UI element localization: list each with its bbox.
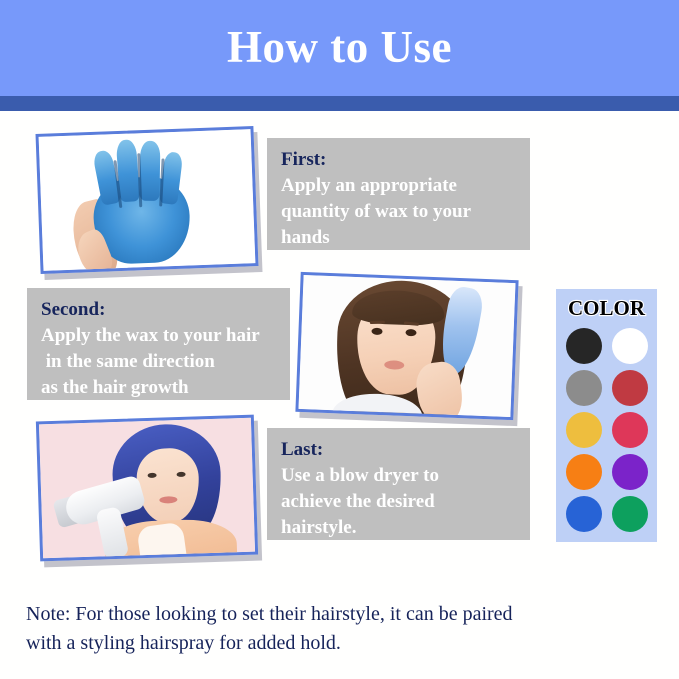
finger-icon bbox=[139, 141, 160, 201]
step-panel-first: First: Apply an appropriate quantity of … bbox=[267, 138, 530, 250]
photo-second-content bbox=[299, 275, 516, 417]
eyebrow-icon bbox=[370, 321, 385, 324]
color-swatch-crimson-pink[interactable] bbox=[612, 412, 648, 448]
towel-icon bbox=[136, 522, 187, 559]
color-swatch-golden-yellow[interactable] bbox=[566, 412, 602, 448]
color-swatch-grid bbox=[561, 325, 653, 535]
footer-note-line: Note: For those looking to set their hai… bbox=[26, 600, 646, 629]
header-divider bbox=[0, 96, 679, 111]
color-swatch-purple[interactable] bbox=[612, 454, 648, 490]
color-swatch-royal-blue[interactable] bbox=[566, 496, 602, 532]
step-line: hairstyle. bbox=[281, 515, 516, 541]
step-line: hands bbox=[281, 225, 516, 251]
photo-second-step bbox=[295, 272, 518, 420]
color-swatch-orange[interactable] bbox=[566, 454, 602, 490]
infographic-page: How to Use First: Apply an appropriate q… bbox=[0, 0, 679, 679]
step-line: as the hair growth bbox=[41, 375, 276, 401]
step-line: Apply the wax to your hair bbox=[41, 323, 276, 349]
step-heading-second: Second: bbox=[41, 297, 276, 323]
color-swatch-panel: COLOR bbox=[556, 289, 657, 542]
step-line: achieve the desired bbox=[281, 489, 516, 515]
color-panel-title: COLOR bbox=[556, 295, 657, 321]
step-heading-last: Last: bbox=[281, 437, 516, 463]
photo-first-step bbox=[36, 126, 259, 274]
color-swatch-white[interactable] bbox=[612, 328, 648, 364]
photo-last-content bbox=[39, 418, 255, 559]
color-swatch-brick-red[interactable] bbox=[612, 370, 648, 406]
eye-icon bbox=[371, 328, 382, 335]
step-line: in the same direction bbox=[41, 349, 276, 375]
color-swatch-black[interactable] bbox=[566, 328, 602, 364]
step-heading-first: First: bbox=[281, 147, 516, 173]
step-line: Use a blow dryer to bbox=[281, 463, 516, 489]
step-panel-last: Last: Use a blow dryer to achieve the de… bbox=[267, 428, 530, 540]
footer-note: Note: For those looking to set their hai… bbox=[26, 600, 646, 658]
step-line: quantity of wax to your bbox=[281, 199, 516, 225]
color-swatch-gray[interactable] bbox=[566, 370, 602, 406]
footer-note-line: with a styling hairspray for added hold. bbox=[26, 629, 646, 658]
step-line: Apply an appropriate bbox=[281, 173, 516, 199]
photo-last-step bbox=[36, 415, 258, 562]
step-panel-second: Second: Apply the wax to your hair in th… bbox=[27, 288, 290, 400]
color-swatch-green[interactable] bbox=[612, 496, 648, 532]
page-title: How to Use bbox=[0, 20, 679, 74]
photo-first-content bbox=[39, 129, 256, 271]
